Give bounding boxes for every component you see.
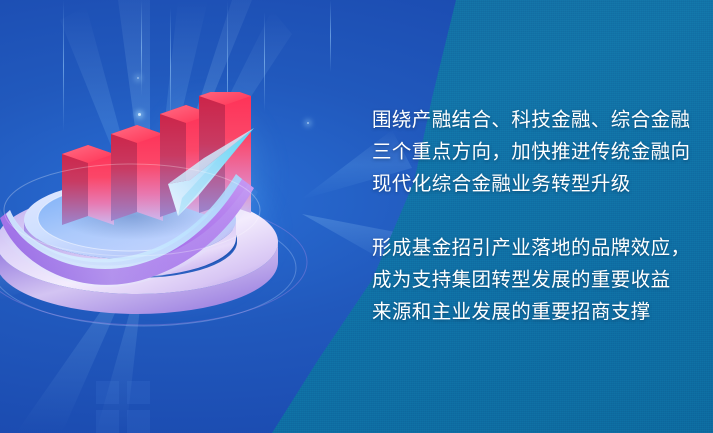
light-streak: [141, 0, 142, 96]
grid-square: [127, 410, 150, 433]
paragraph-2-line-2: 成为支持集团转型发展的重要收益: [372, 264, 692, 296]
light-streak: [330, 0, 331, 72]
paragraph-1-line-2: 三个重点方向，加快推进传统金融向: [372, 136, 692, 168]
paragraph-2-line-1: 形成基金招引产业落地的品牌效应，: [372, 232, 692, 264]
grid-square: [96, 410, 119, 433]
paragraph-1-line-3: 现代化综合金融业务转型升级: [372, 168, 692, 200]
grid-square: [96, 381, 119, 404]
sparkle-dot: [137, 77, 139, 79]
copy-block: 围绕产融结合、科技金融、综合金融 三个重点方向，加快推进传统金融向 现代化综合金…: [372, 104, 692, 328]
grid-square: [127, 381, 150, 404]
paragraph-2: 形成基金招引产业落地的品牌效应， 成为支持集团转型发展的重要收益 来源和主业发展…: [372, 232, 692, 328]
paragraph-1: 围绕产融结合、科技金融、综合金融 三个重点方向，加快推进传统金融向 现代化综合金…: [372, 104, 692, 200]
paragraph-1-line-1: 围绕产融结合、科技金融、综合金融: [372, 104, 692, 136]
bar-2: [111, 125, 163, 221]
paragraph-2-line-3: 来源和主业发展的重要招商支撑: [372, 296, 692, 328]
bar-1: [62, 145, 114, 225]
promo-banner: 围绕产融结合、科技金融、综合金融 三个重点方向，加快推进传统金融向 现代化综合金…: [0, 0, 713, 433]
growth-chart-illustration: [0, 92, 332, 342]
